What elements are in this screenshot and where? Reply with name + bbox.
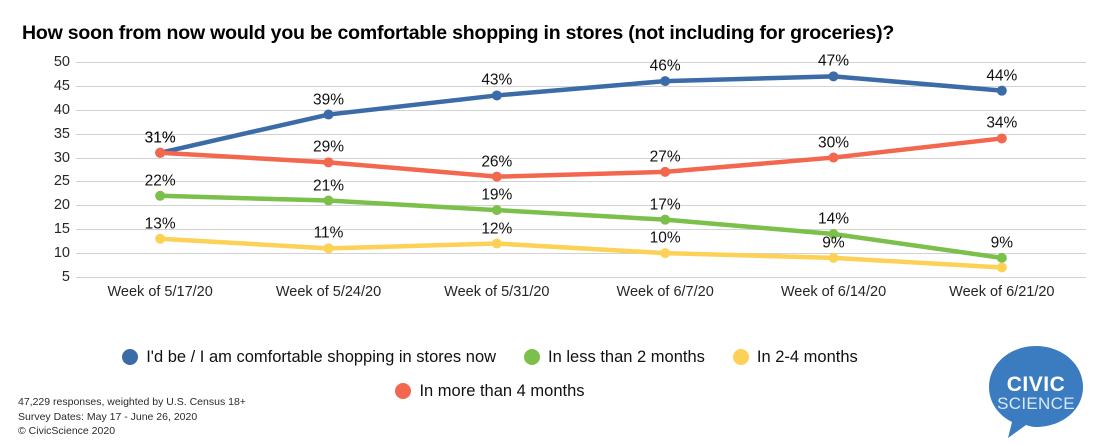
data-point-marker: [155, 148, 165, 158]
footnote: 47,229 responses, weighted by U.S. Censu…: [18, 395, 246, 438]
y-axis-tick: 40: [54, 103, 70, 118]
legend-label: In less than 2 months: [548, 348, 705, 367]
legend-item[interactable]: In less than 2 months: [524, 348, 705, 367]
data-point-marker: [829, 253, 839, 263]
y-axis: 5045403530252015105: [40, 62, 70, 277]
data-point-marker: [660, 248, 670, 258]
y-axis-tick: 45: [54, 79, 70, 94]
data-point-marker: [997, 253, 1007, 263]
footnote-responses: 47,229 responses, weighted by U.S. Censu…: [18, 395, 246, 409]
data-point-label: 30%: [818, 135, 849, 151]
data-point-marker: [492, 90, 502, 100]
y-axis-tick: 35: [54, 126, 70, 141]
data-point-label: 21%: [313, 178, 344, 194]
data-point-marker: [492, 239, 502, 249]
data-point-label: 9%: [822, 235, 844, 251]
legend-color-dot: [122, 349, 138, 365]
y-axis-tick: 25: [54, 174, 70, 189]
y-axis-tick: 15: [54, 222, 70, 237]
data-point-label: 19%: [481, 188, 512, 204]
legend-item[interactable]: I'd be / I am comfortable shopping in st…: [122, 348, 496, 367]
data-point-marker: [492, 172, 502, 182]
legend-row-primary: I'd be / I am comfortable shopping in st…: [0, 340, 980, 374]
data-point-label: 12%: [481, 221, 512, 237]
legend-label: I'd be / I am comfortable shopping in st…: [146, 348, 496, 367]
footnote-copyright: © CivicScience 2020: [18, 424, 246, 438]
legend-label: In more than 4 months: [419, 382, 584, 401]
data-point-marker: [155, 191, 165, 201]
data-point-marker: [997, 86, 1007, 96]
legend-label: In 2-4 months: [757, 348, 858, 367]
series-line: [160, 76, 1002, 152]
data-point-label: 26%: [481, 154, 512, 170]
data-point-marker: [660, 76, 670, 86]
footnote-dates: Survey Dates: May 17 - June 26, 2020: [18, 410, 246, 424]
series-lines: [76, 62, 1086, 277]
x-axis-tick: Week of 5/17/20: [107, 284, 212, 300]
x-axis-tick: Week of 5/24/20: [276, 284, 381, 300]
data-point-marker: [324, 243, 334, 253]
logo-line1: CIVIC: [1007, 373, 1066, 396]
data-point-marker: [492, 205, 502, 215]
data-point-marker: [324, 157, 334, 167]
x-axis-tick: Week of 6/7/20: [617, 284, 714, 300]
data-point-label: 13%: [145, 216, 176, 232]
data-point-marker: [829, 153, 839, 163]
data-point-label: 27%: [650, 149, 681, 165]
civicscience-logo: CIVIC SCIENCE: [984, 342, 1088, 442]
legend-color-dot: [524, 349, 540, 365]
data-point-label: 46%: [650, 59, 681, 75]
series-line: [160, 239, 1002, 268]
legend-color-dot: [733, 349, 749, 365]
data-point-marker: [660, 167, 670, 177]
data-point-label: 31%: [145, 130, 176, 146]
data-point-marker: [155, 234, 165, 244]
x-axis-tick: Week of 5/31/20: [444, 284, 549, 300]
data-point-label: 43%: [481, 73, 512, 89]
data-point-label: 10%: [650, 231, 681, 247]
data-point-label: 9%: [991, 235, 1013, 251]
data-point-label: 47%: [818, 54, 849, 70]
data-point-marker: [660, 215, 670, 225]
speech-bubble-icon: CIVIC SCIENCE: [984, 342, 1088, 442]
data-point-marker: [324, 110, 334, 120]
data-point-marker: [829, 71, 839, 81]
legend-color-dot: [395, 383, 411, 399]
data-point-label: 39%: [313, 92, 344, 108]
x-axis-tick: Week of 6/14/20: [781, 284, 886, 300]
y-axis-tick: 50: [54, 55, 70, 70]
y-axis-tick: 10: [54, 246, 70, 261]
data-point-marker: [997, 133, 1007, 143]
data-point-label: 29%: [313, 140, 344, 156]
legend-item[interactable]: In 2-4 months: [733, 348, 858, 367]
data-point-label: 17%: [650, 197, 681, 213]
data-point-label: 11%: [314, 226, 344, 242]
y-axis-tick: 5: [62, 270, 70, 285]
y-axis-tick: 20: [54, 198, 70, 213]
data-point-marker: [997, 262, 1007, 272]
legend-item[interactable]: In more than 4 months: [395, 382, 584, 401]
data-point-marker: [324, 196, 334, 206]
x-axis: Week of 5/17/20Week of 5/24/20Week of 5/…: [76, 284, 1086, 310]
data-point-label: 34%: [986, 116, 1017, 132]
data-point-label: 44%: [986, 68, 1017, 84]
grid-line: [76, 277, 1086, 278]
logo-line2: SCIENCE: [997, 394, 1075, 413]
series-line: [160, 138, 1002, 176]
data-point-label: 22%: [145, 173, 176, 189]
x-axis-tick: Week of 6/21/20: [949, 284, 1054, 300]
page-title: How soon from now would you be comfortab…: [22, 22, 894, 45]
y-axis-tick: 30: [54, 150, 70, 165]
data-point-label: 14%: [818, 212, 849, 228]
chart-plot-area: 5045403530252015105 31%39%43%46%47%44%31…: [0, 62, 1094, 302]
